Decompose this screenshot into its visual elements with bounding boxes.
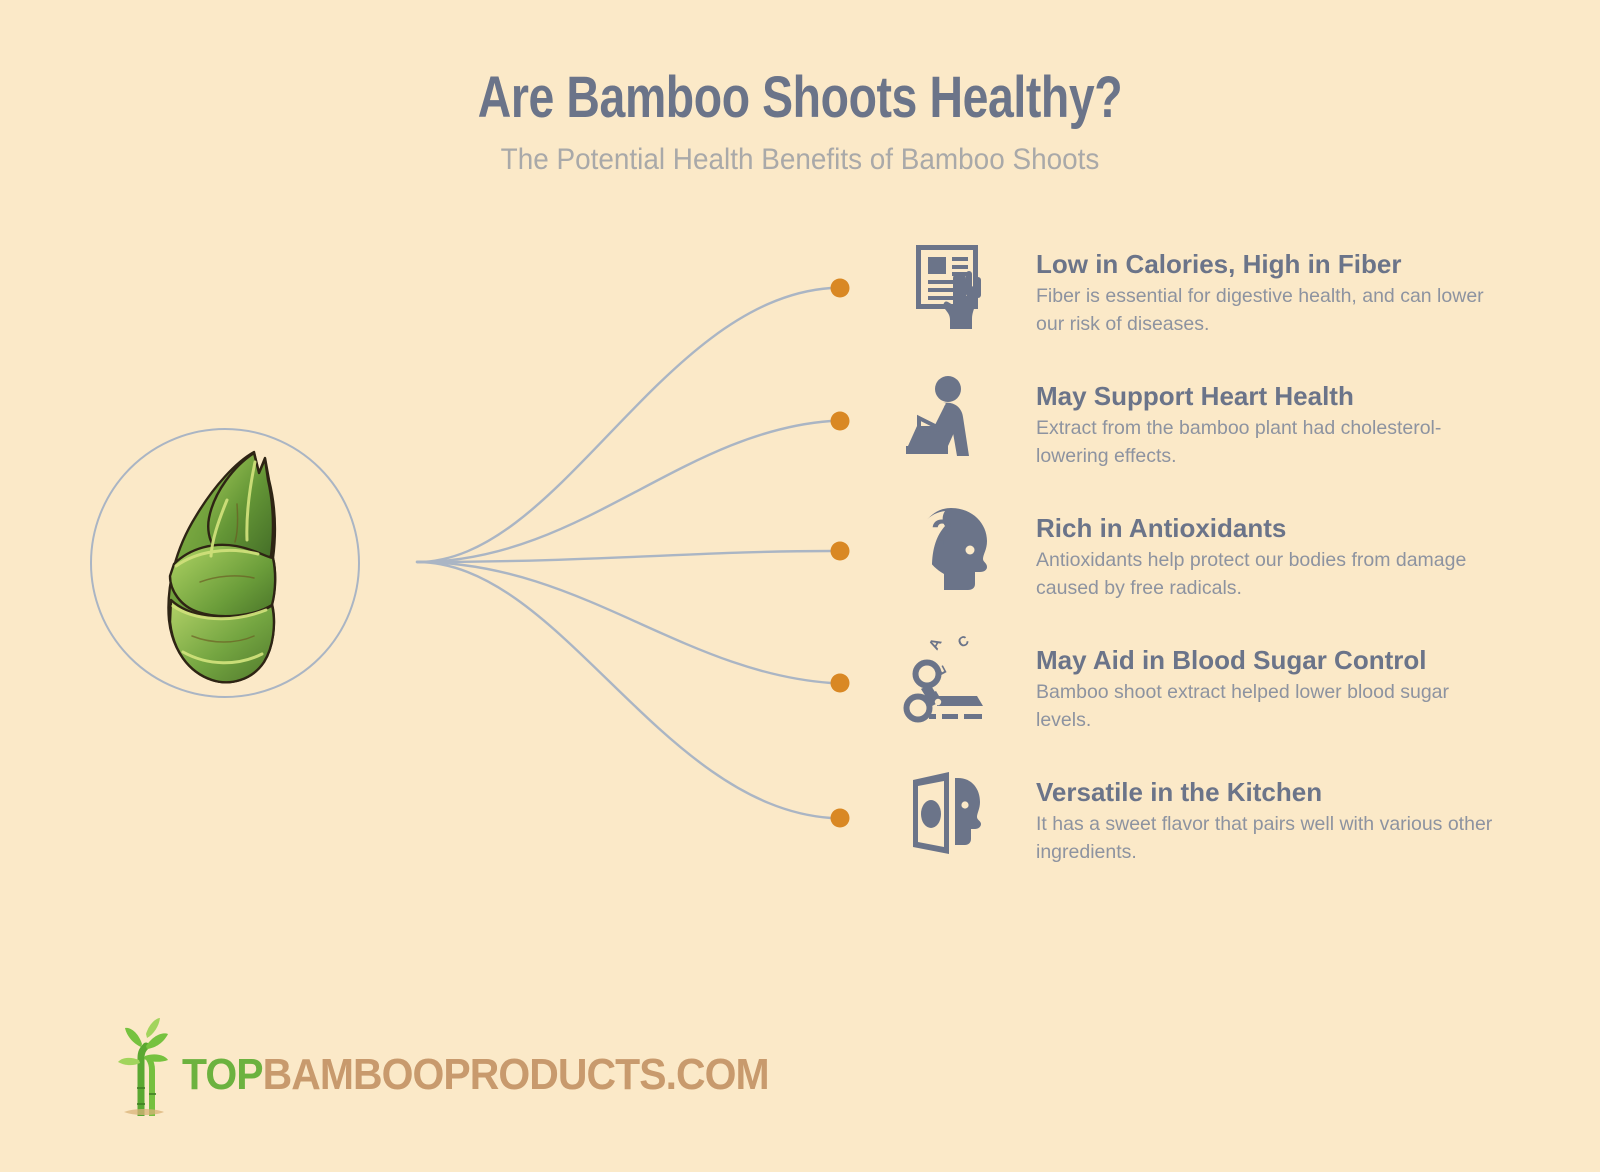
benefit-desc: Antioxidants help protect our bodies fro… [1036,547,1506,602]
svg-text:A: A [926,635,946,653]
header: Are Bamboo Shoots Healthy? The Potential… [0,0,1600,177]
connector-dot-3 [831,542,850,561]
page-title: Are Bamboo Shoots Healthy? [160,68,1440,129]
benefit-item-versatile-kitchen[interactable]: Versatile in the Kitchen It has a sweet … [903,764,1523,866]
connector-dot-2 [831,412,850,431]
bamboo-stalk-icon [112,1012,174,1116]
benefit-title: Low in Calories, High in Fiber [1036,250,1506,279]
logo-text-rest: BAMBOOPRODUCTS.COM [263,1050,769,1099]
benefit-text: Low in Calories, High in Fiber Fiber is … [998,236,1506,338]
logo-wordmark: TOPBAMBOOPRODUCTS.COM [182,1050,769,1100]
benefit-text: May Support Heart Health Extract from th… [998,368,1506,470]
benefit-desc: Extract from the bamboo plant had choles… [1036,415,1506,470]
head-question-mark-icon: ? [903,502,998,597]
benefit-item-heart-health[interactable]: May Support Heart Health Extract from th… [903,368,1523,500]
benefit-item-low-calories[interactable]: Low in Calories, High in Fiber Fiber is … [903,236,1523,368]
svg-text:C: C [955,634,971,651]
person-at-desk-icon [903,370,998,465]
svg-text:?: ? [931,512,953,553]
benefit-title: May Support Heart Health [1036,382,1506,411]
connector-line-2 [417,421,831,562]
benefit-title: Rich in Antioxidants [1036,514,1506,543]
benefit-text: May Aid in Blood Sugar Control Bamboo sh… [998,632,1506,734]
scissors-vitamin-letters-icon: A C E [903,634,998,729]
connector-line-4 [417,562,831,683]
logo-text-top: TOP [182,1050,263,1099]
benefit-text: Rich in Antioxidants Antioxidants help p… [998,500,1506,602]
benefit-text: Versatile in the Kitchen It has a sweet … [998,764,1506,866]
connector-dot-4 [831,674,850,693]
benefit-item-antioxidants[interactable]: ? Rich in Antioxidants Antioxidants help… [903,500,1523,632]
benefit-desc: It has a sweet flavor that pairs well wi… [1036,811,1506,866]
connector-line-3 [417,551,831,562]
page-subtitle: The Potential Health Benefits of Bamboo … [56,143,1544,177]
site-logo[interactable]: TOPBAMBOOPRODUCTS.COM [112,1012,813,1116]
benefit-title: May Aid in Blood Sugar Control [1036,646,1506,675]
benefit-desc: Fiber is essential for digestive health,… [1036,283,1506,338]
benefit-title: Versatile in the Kitchen [1036,778,1506,807]
head-mirror-icon [903,766,998,861]
benefit-item-blood-sugar[interactable]: A C E May Aid in Blood Sugar Control Bam… [903,632,1523,764]
bamboo-shoot-illustration [126,440,326,690]
connector-line-1 [417,288,831,562]
connector-dot-1 [831,279,850,298]
connector-line-5 [417,562,831,818]
hero-circle [90,428,360,698]
benefits-list: Low in Calories, High in Fiber Fiber is … [903,236,1523,866]
hand-holding-document-icon [903,238,998,333]
benefit-desc: Bamboo shoot extract helped lower blood … [1036,679,1506,734]
connector-dot-5 [831,809,850,828]
